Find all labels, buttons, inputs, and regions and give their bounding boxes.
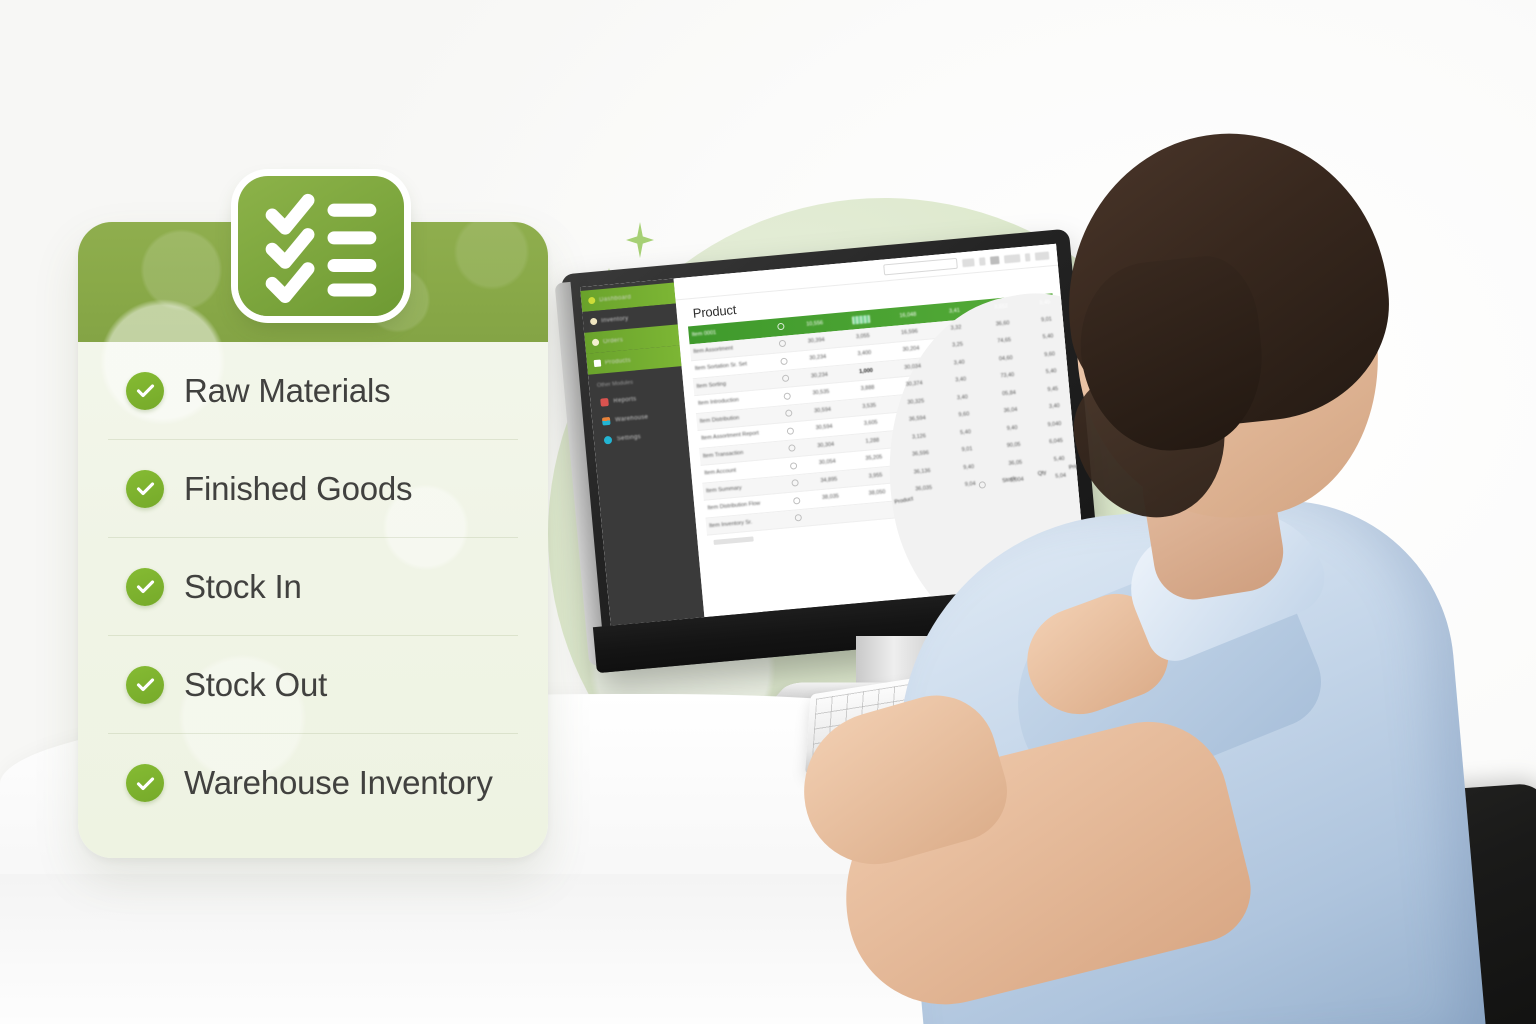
list-item[interactable]: Finished Goods (108, 440, 518, 538)
checklist-icon (238, 176, 404, 316)
feature-list: Raw Materials Finished Goods Stock In St… (78, 342, 548, 832)
cell-product: Item Inventory Sr. (709, 516, 787, 529)
list-item-label: Stock In (184, 568, 302, 606)
box-icon (594, 359, 602, 367)
row-select-checkbox[interactable] (775, 392, 798, 401)
list-item[interactable]: Stock Out (108, 636, 518, 734)
report-icon (600, 397, 609, 406)
cell-stock: 38,035 (807, 492, 854, 502)
list-item[interactable]: Warehouse Inventory (108, 734, 518, 832)
row-select-checkbox[interactable] (769, 322, 792, 331)
sidebar-item-label: Orders (603, 337, 624, 345)
status-dot-icon (590, 318, 598, 326)
check-icon (126, 666, 164, 704)
row-select-checkbox[interactable] (785, 496, 808, 505)
check-icon (126, 568, 164, 606)
cell-product: Item 0001 (692, 325, 770, 338)
cell-qty-bar (838, 313, 885, 325)
sidebar-item-label: Settings (617, 434, 642, 442)
list-item-label: Warehouse Inventory (184, 764, 493, 802)
check-icon (126, 470, 164, 508)
cell-product: Item Distribution Flow (707, 499, 785, 512)
scene-stage: Dashboard Inventory Orders Products O (0, 0, 1536, 1024)
cell-stock (809, 513, 856, 517)
sidebar-item-label: Inventory (601, 315, 629, 323)
cell-stock: 30,594 (799, 405, 846, 415)
row-select-checkbox[interactable] (774, 374, 797, 383)
feature-card: Raw Materials Finished Goods Stock In St… (78, 222, 548, 858)
row-select-checkbox[interactable] (771, 339, 794, 348)
row-select-checkbox[interactable] (779, 426, 802, 435)
cell-product: Item Account (704, 464, 782, 477)
sidebar-item-label: Products (605, 357, 632, 365)
cell-product: Item Assortment Report (701, 429, 779, 442)
cell-stock: 34,895 (805, 475, 852, 485)
sidebar-item-label: Dashboard (599, 294, 631, 303)
list-item-label: Raw Materials (184, 372, 390, 410)
check-icon (126, 764, 164, 802)
cell-stock: 30,535 (797, 388, 844, 398)
gear-icon (604, 435, 613, 444)
list-item[interactable]: Stock In (108, 538, 518, 636)
cell-product: Item Transaction (703, 446, 781, 459)
cell-stock: 10,556 (791, 319, 838, 329)
warehouse-icon (602, 416, 611, 425)
sparkle-icon (626, 222, 654, 258)
cell-stock: 30,234 (796, 370, 843, 380)
cell-stock: 30,054 (804, 458, 851, 468)
cell-product: Item Sorting (696, 377, 774, 390)
sidebar-item-label: Reports (613, 396, 637, 404)
status-dot-icon (592, 339, 600, 347)
row-select-checkbox[interactable] (782, 461, 805, 470)
check-icon (126, 372, 164, 410)
cell-stock: 30,304 (802, 440, 849, 450)
cell-stock: 30,594 (801, 423, 848, 433)
cell-product: Item Distribution (699, 411, 777, 424)
cell-stock: 30,234 (794, 353, 841, 363)
row-select-checkbox[interactable] (787, 514, 810, 523)
person-at-desk (880, 110, 1536, 1024)
row-select-checkbox[interactable] (780, 444, 803, 453)
list-item-label: Finished Goods (184, 470, 412, 508)
cell-product: Item Introduction (698, 394, 776, 407)
row-select-checkbox[interactable] (777, 409, 800, 418)
list-item[interactable]: Raw Materials (108, 342, 518, 440)
sidebar-item-label: Warehouse (615, 414, 649, 423)
status-dot-icon (588, 297, 596, 305)
cell-stock: 30,394 (793, 336, 840, 346)
list-item-label: Stock Out (184, 666, 327, 704)
cell-product: Item Summary (706, 481, 784, 494)
cell-product: Item Assortment (693, 342, 771, 355)
row-select-checkbox[interactable] (783, 479, 806, 488)
cell-product: Item Sortation Sr. Set (695, 359, 773, 372)
row-select-checkbox[interactable] (772, 357, 795, 366)
